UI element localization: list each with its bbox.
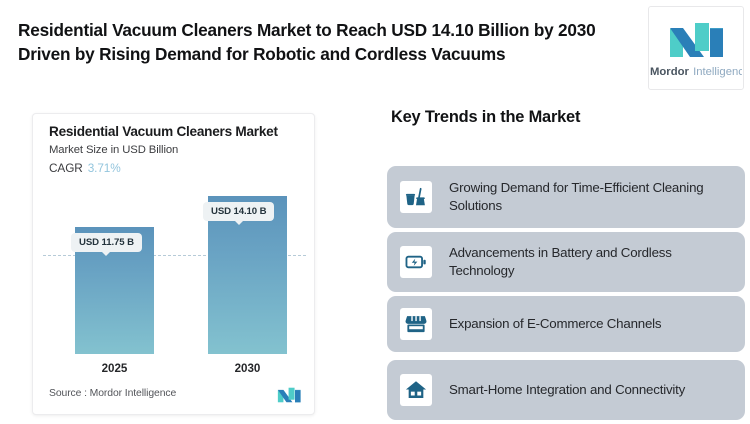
brand-logo: Mordor Intelligence [648,6,744,90]
brand-wordmark: Mordor Intelligence [650,64,743,78]
trend-label: Growing Demand for Time-Efficient Cleani… [449,179,733,215]
trend-card-battery-technology[interactable]: Advancements in Battery and Cordless Tec… [387,232,745,292]
page-header: Residential Vacuum Cleaners Market to Re… [0,0,750,96]
trend-card-ecommerce-channels[interactable]: Expansion of E-Commerce Channels [387,296,745,352]
trend-label: Expansion of E-Commerce Channels [449,315,661,333]
mordor-m-logo-icon [666,19,726,61]
svg-text:Intelligence: Intelligence [693,65,743,77]
svg-text:Mordor: Mordor [650,65,690,77]
battery-charging-icon [400,246,432,278]
mordor-m-logo-icon [276,386,302,404]
mop-bucket-icon [400,181,432,213]
chart-title: Residential Vacuum Cleaners Market [49,124,278,139]
chart-cagr: CAGR3.71% [49,161,121,175]
chart-subtitle: Market Size in USD Billion [49,144,178,156]
chart-footer: Source : Mordor Intelligence [33,382,316,414]
x-axis-tick-2025: 2025 [75,362,154,375]
trend-label: Smart-Home Integration and Connectivity [449,381,685,399]
trend-label: Advancements in Battery and Cordless Tec… [449,244,733,280]
market-size-chart-card: Residential Vacuum Cleaners Market Marke… [32,113,315,415]
bar-value-label-2030: USD 14.10 B [203,202,274,221]
house-icon [400,374,432,406]
cagr-label: CAGR [49,161,83,175]
page-title: Residential Vacuum Cleaners Market to Re… [18,18,628,67]
trend-card-smart-home[interactable]: Smart-Home Integration and Connectivity [387,360,745,420]
chart-source: Source : Mordor Intelligence [49,388,176,399]
x-axis-tick-2030: 2030 [208,362,287,375]
storefront-icon [400,308,432,340]
bar-value-label-2025: USD 11.75 B [71,233,142,252]
key-trends-heading: Key Trends in the Market [391,108,580,127]
trend-card-cleaning-solutions[interactable]: Growing Demand for Time-Efficient Cleani… [387,166,745,228]
chart-plot-area: USD 11.75 B USD 14.10 B 2025 2030 [33,176,316,380]
cagr-value: 3.71% [88,161,121,175]
